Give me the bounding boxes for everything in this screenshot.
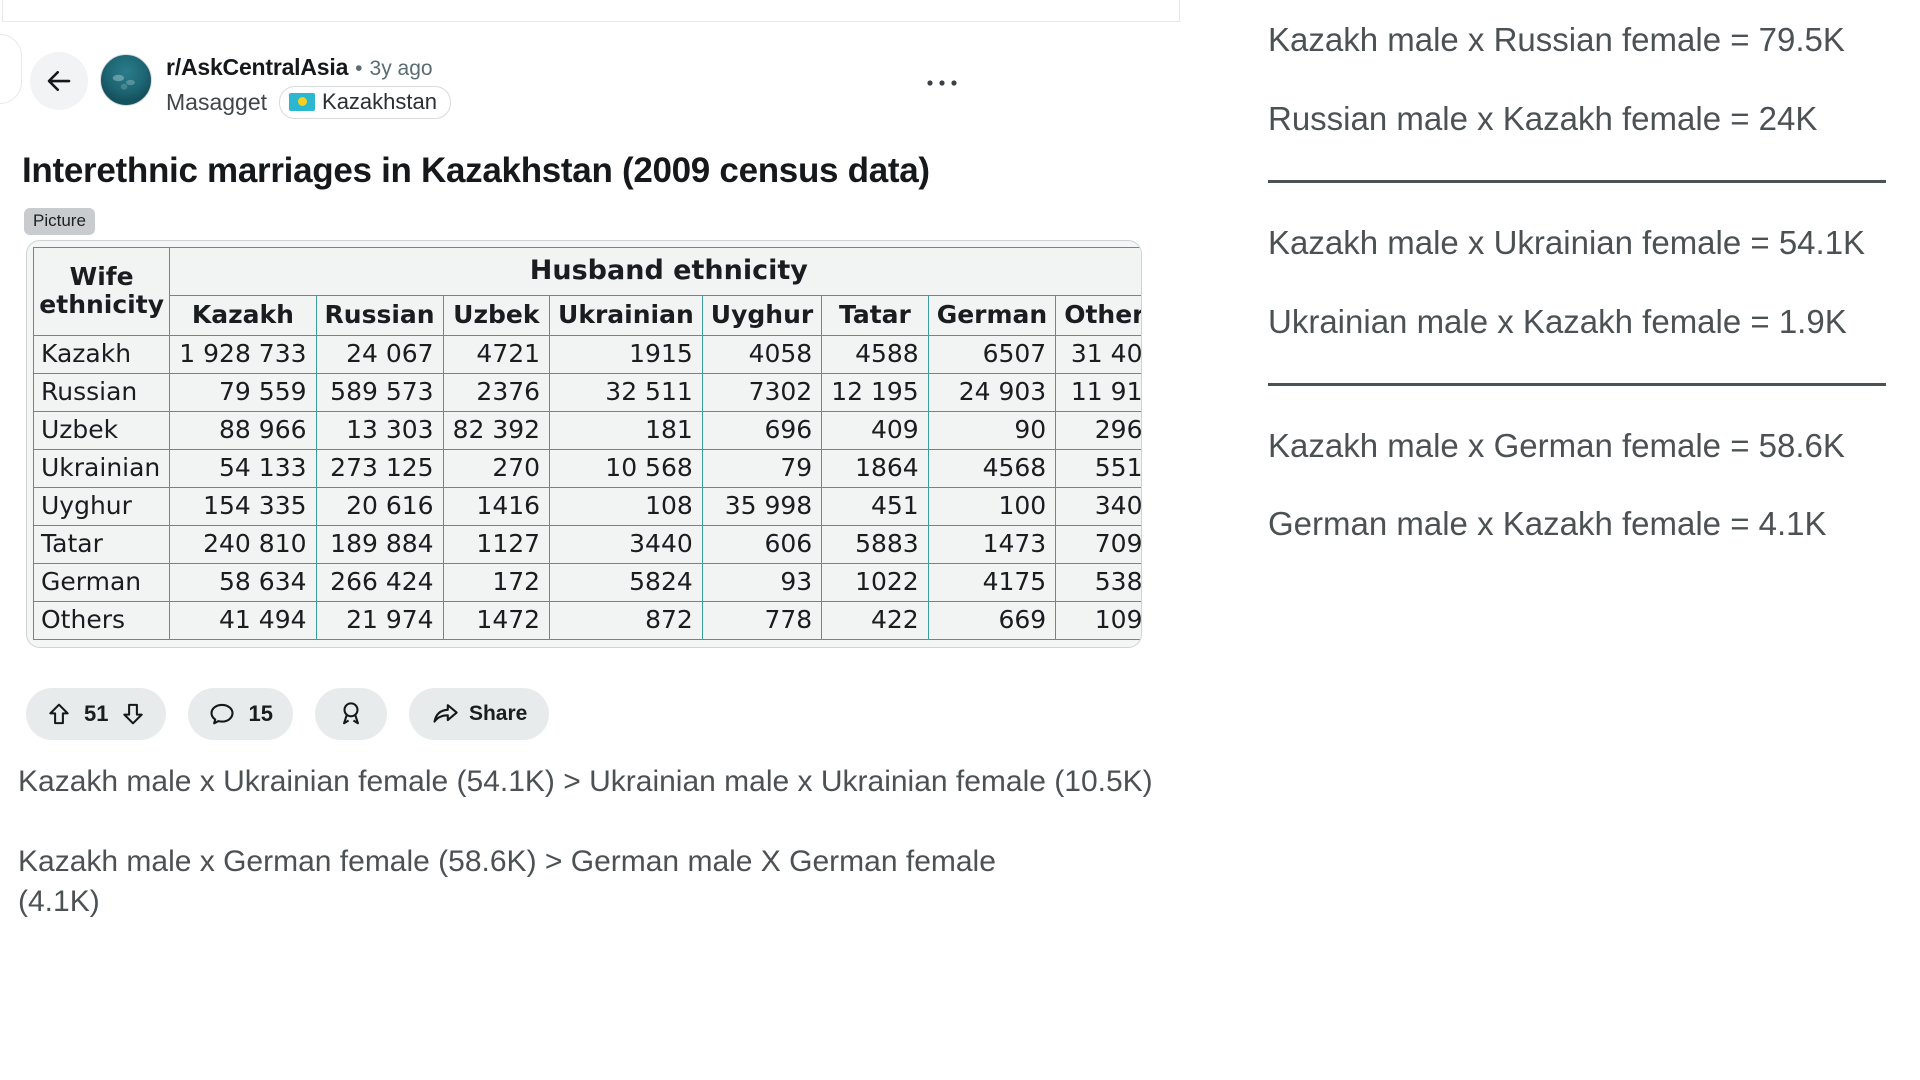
table-cell: 5883: [822, 526, 928, 564]
row-label: Uzbek: [34, 412, 170, 450]
table-cell: 31 404: [1056, 336, 1142, 374]
vote-pill[interactable]: 51: [26, 688, 166, 740]
share-label: Share: [469, 702, 527, 726]
table-cell: 1 928 733: [170, 336, 316, 374]
table-cell: 82 392: [443, 412, 549, 450]
table-cell: 5381: [1056, 564, 1142, 602]
row-label: Others: [34, 602, 170, 640]
table-cell: 20 616: [316, 488, 443, 526]
row-label: Ukrainian: [34, 450, 170, 488]
husband-ethnicity-header: Husband ethnicity: [170, 248, 1142, 296]
table-cell: 2376: [443, 374, 549, 412]
table-row: German58 634266 424172582493102241755381: [34, 564, 1143, 602]
table-cell: 451: [822, 488, 928, 526]
post-header-text: r/AskCentralAsia • 3y ago Masagget Kazak…: [166, 52, 451, 119]
column-header: German: [928, 296, 1056, 336]
table-cell: 273 125: [316, 450, 443, 488]
note-item: Ukrainian male x Kazakh female = 1.9K: [1268, 300, 1920, 345]
table-cell: 11 917: [1056, 374, 1142, 412]
table-cell: 1416: [443, 488, 549, 526]
table-cell: 1127: [443, 526, 549, 564]
post-author-line: Masagget Kazakhstan: [166, 86, 451, 119]
table-cell: 1864: [822, 450, 928, 488]
table-cell: 3405: [1056, 488, 1142, 526]
back-button[interactable]: [30, 52, 88, 110]
card-left-border: [0, 34, 22, 104]
subreddit-link[interactable]: r/AskCentralAsia: [166, 54, 348, 81]
table-cell: 422: [822, 602, 928, 640]
table-cell: 7091: [1056, 526, 1142, 564]
picture-badge: Picture: [24, 208, 95, 235]
note-item: German male x Kazakh female = 4.1K: [1268, 502, 1920, 547]
table-cell: 54 133: [170, 450, 316, 488]
table-cell: 1022: [822, 564, 928, 602]
note-item: Kazakh male x Russian female = 79.5K: [1268, 18, 1920, 63]
table-cell: 696: [702, 412, 821, 450]
table-cell: 90: [928, 412, 1056, 450]
page-title: Interethnic marriages in Kazakhstan (200…: [22, 151, 1162, 191]
table-row: Tatar240 810189 884112734406065883147370…: [34, 526, 1143, 564]
author-link[interactable]: Masagget: [166, 89, 267, 116]
column-header: Others: [1056, 296, 1142, 336]
table-cell: 6507: [928, 336, 1056, 374]
table-cell: 93: [702, 564, 821, 602]
upvote-arrow-icon[interactable]: [46, 700, 72, 728]
table-cell: 172: [443, 564, 549, 602]
row-label: Tatar: [34, 526, 170, 564]
table-cell: 266 424: [316, 564, 443, 602]
note-spacer: [1268, 266, 1920, 300]
table-row: Others41 49421 97414728727784226691090: [34, 602, 1143, 640]
share-arrow-icon: [431, 701, 459, 727]
table-cell: 108: [550, 488, 703, 526]
post-age: 3y ago: [370, 57, 433, 81]
table-row: Kazakh1 928 73324 0674721191540584588650…: [34, 336, 1143, 374]
table-body: Kazakh1 928 73324 0674721191540584588650…: [34, 336, 1143, 640]
corner-header-line2: ethnicity: [39, 290, 164, 319]
row-label: Uyghur: [34, 488, 170, 526]
table-cell: 669: [928, 602, 1056, 640]
table-cell: 189 884: [316, 526, 443, 564]
row-label: Russian: [34, 374, 170, 412]
table-header-row-columns: KazakhRussianUzbekUkrainianUyghurTatarGe…: [34, 296, 1143, 336]
note-item: Russian male x Kazakh female = 24K: [1268, 97, 1920, 142]
share-pill[interactable]: Share: [409, 688, 549, 740]
downvote-arrow-icon[interactable]: [120, 700, 146, 728]
column-header: Uzbek: [443, 296, 549, 336]
post-header: r/AskCentralAsia • 3y ago Masagget Kazak…: [30, 52, 451, 119]
comment-count: 15: [248, 701, 272, 727]
table-header-row-top: Wife ethnicity Husband ethnicity: [34, 248, 1143, 296]
note-spacer: [1268, 63, 1920, 97]
table-row: Ukrainian54 133273 12527010 568791864456…: [34, 450, 1143, 488]
table-row: Uzbek88 96613 30382 392181696409902969: [34, 412, 1143, 450]
table-row: Uyghur154 33520 616141610835 99845110034…: [34, 488, 1143, 526]
back-arrow-icon: [44, 66, 74, 96]
table-cell: 240 810: [170, 526, 316, 564]
table-cell: 10 568: [550, 450, 703, 488]
table-cell: 5513: [1056, 450, 1142, 488]
post-paragraph-2: Kazakh male x German female (58.6K) > Ge…: [18, 842, 1198, 922]
census-table-image: Wife ethnicity Husband ethnicity KazakhR…: [26, 240, 1142, 648]
table-cell: 1473: [928, 526, 1056, 564]
flair-label: Kazakhstan: [322, 89, 437, 115]
vote-count: 51: [84, 701, 108, 727]
table-cell: 778: [702, 602, 821, 640]
corner-header: Wife ethnicity: [34, 248, 170, 336]
subreddit-avatar[interactable]: [100, 54, 152, 106]
comment-pill[interactable]: 15: [188, 688, 292, 740]
table-cell: 4721: [443, 336, 549, 374]
card-top-border: [2, 0, 1180, 22]
table-cell: 13 303: [316, 412, 443, 450]
table-cell: 3440: [550, 526, 703, 564]
table-cell: 100: [928, 488, 1056, 526]
table-cell: 270: [443, 450, 549, 488]
post-action-bar: 51 15 Share: [26, 688, 549, 740]
table-cell: 58 634: [170, 564, 316, 602]
table-cell: 5824: [550, 564, 703, 602]
post-meta-line: r/AskCentralAsia • 3y ago: [166, 54, 451, 81]
post-paragraph-1: Kazakh male x Ukrainian female (54.1K) >…: [18, 762, 1198, 802]
post-flair[interactable]: Kazakhstan: [279, 86, 451, 119]
award-icon: [337, 699, 365, 729]
post-column: r/AskCentralAsia • 3y ago Masagget Kazak…: [0, 0, 1190, 1080]
table-cell: 1472: [443, 602, 549, 640]
note-item: Kazakh male x German female = 58.6K: [1268, 424, 1920, 469]
row-label: German: [34, 564, 170, 602]
note-divider: [1268, 180, 1886, 183]
table-cell: 21 974: [316, 602, 443, 640]
meta-separator: •: [355, 57, 362, 81]
table-cell: 7302: [702, 374, 821, 412]
column-header: Kazakh: [170, 296, 316, 336]
table-cell: 4568: [928, 450, 1056, 488]
table-cell: 409: [822, 412, 928, 450]
table-cell: 1090: [1056, 602, 1142, 640]
screenshot-root: r/AskCentralAsia • 3y ago Masagget Kazak…: [0, 0, 1920, 1080]
table-cell: 88 966: [170, 412, 316, 450]
column-header: Ukrainian: [550, 296, 703, 336]
table-cell: 41 494: [170, 602, 316, 640]
table-cell: 4058: [702, 336, 821, 374]
table-cell: 4175: [928, 564, 1056, 602]
award-pill[interactable]: [315, 688, 387, 740]
column-header: Russian: [316, 296, 443, 336]
note-divider: [1268, 383, 1886, 386]
table-cell: 79 559: [170, 374, 316, 412]
overflow-dots-icon: [925, 78, 959, 88]
note-spacer: [1268, 468, 1920, 502]
row-label: Kazakh: [34, 336, 170, 374]
census-table: Wife ethnicity Husband ethnicity KazakhR…: [33, 247, 1142, 640]
table-cell: 4588: [822, 336, 928, 374]
overflow-menu-icon[interactable]: [922, 70, 962, 96]
kazakhstan-flag-icon: [289, 93, 315, 111]
table-cell: 606: [702, 526, 821, 564]
corner-header-line1: Wife: [70, 262, 134, 291]
table-cell: 1915: [550, 336, 703, 374]
comment-bubble-icon: [208, 700, 236, 728]
table-cell: 872: [550, 602, 703, 640]
table-cell: 79: [702, 450, 821, 488]
notes-column: Kazakh male x Russian female = 79.5K Rus…: [1268, 0, 1920, 1080]
table-cell: 181: [550, 412, 703, 450]
note-item: Kazakh male x Ukrainian female = 54.1K: [1268, 221, 1920, 266]
table-cell: 35 998: [702, 488, 821, 526]
table-cell: 154 335: [170, 488, 316, 526]
table-cell: 32 511: [550, 374, 703, 412]
table-cell: 24 903: [928, 374, 1056, 412]
table-head: Wife ethnicity Husband ethnicity KazakhR…: [34, 248, 1143, 336]
table-cell: 2969: [1056, 412, 1142, 450]
table-cell: 24 067: [316, 336, 443, 374]
table-row: Russian79 559589 573237632 511730212 195…: [34, 374, 1143, 412]
post-body: Kazakh male x Ukrainian female (54.1K) >…: [18, 762, 1198, 962]
column-header: Tatar: [822, 296, 928, 336]
table-cell: 589 573: [316, 374, 443, 412]
column-header: Uyghur: [702, 296, 821, 336]
table-cell: 12 195: [822, 374, 928, 412]
